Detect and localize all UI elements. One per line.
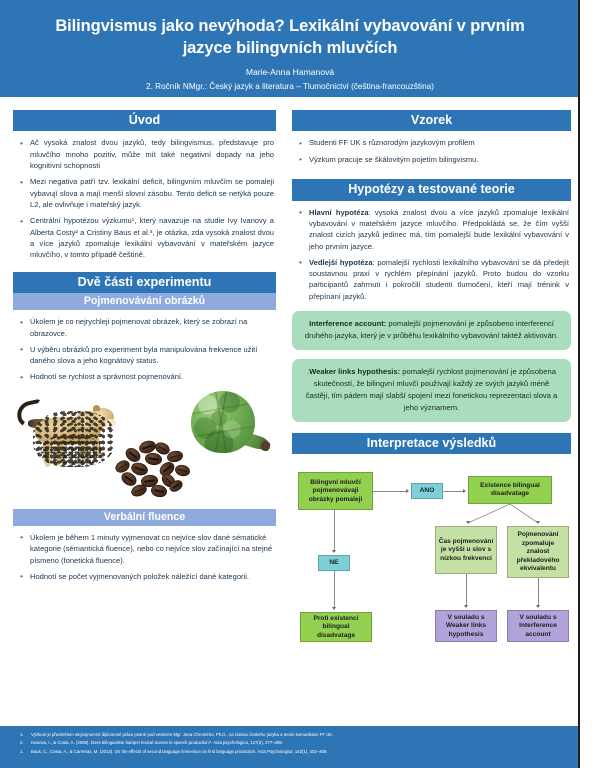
list-item: Hodnotí se počet vyjmenovaných položek n… xyxy=(19,571,274,582)
callout-label: Weaker links hypothesis: xyxy=(309,367,400,376)
interpretation-flowchart: Bilingvní mluvčí pojmenovávaji obrázky p… xyxy=(292,462,571,657)
section-heading-intro: Úvod xyxy=(13,110,276,131)
poster-footnotes: 1. Výzkum je předmětem stejnojmenné dipl… xyxy=(0,726,580,768)
author-name: Marie-Anna Hamanová xyxy=(0,67,580,77)
footnote-text: Baus, C., Costa, A., & Carreiras, M. (20… xyxy=(31,749,328,754)
footnote-list: 1. Výzkum je předmětem stejnojmenné dipl… xyxy=(14,731,570,756)
flow-branch-lines xyxy=(412,504,552,526)
list-item: Ač vysoká znalost dvou jazyků, tedy bili… xyxy=(19,137,274,171)
flow-node-start: Bilingvní mluvčí pojmenovávaji obrázky p… xyxy=(298,472,373,510)
hypothesis-label: Hlavní hypotéza xyxy=(309,208,369,217)
section-heading-sample: Vzorek xyxy=(292,110,571,131)
flow-connector xyxy=(443,491,465,492)
footnote-number: 1. xyxy=(20,731,24,739)
flow-node-branch-frequency: Čas pojmenování je vyšši u slov s nízkou… xyxy=(435,526,497,574)
list-item: Hlavní hypotéza: vysoká znalost dvou a v… xyxy=(298,207,569,252)
flow-connector xyxy=(373,491,407,492)
flow-arrow xyxy=(463,489,466,493)
flow-arrow xyxy=(464,605,468,608)
list-item: Centrální hypotézou výzkumu¹, který nava… xyxy=(19,215,274,260)
author-affiliation: 2. Ročník NMgr.: Český jazyk a literatur… xyxy=(0,82,580,91)
list-item: U výběru obrázků pro experiment byla man… xyxy=(19,344,274,367)
list-item: Studenti FF UK s různorodým jazykovým pr… xyxy=(298,137,569,148)
subsection-heading-verbal-fluency: Verbální fluence xyxy=(13,509,276,526)
flow-connector xyxy=(334,510,335,552)
flow-node-no: NE xyxy=(318,555,350,571)
flow-arrow xyxy=(332,607,336,610)
left-column: Úvod Ač vysoká znalost dvou jazyků, tedy… xyxy=(13,110,276,587)
list-item: Vedlejší hypotéza: pomalejší rychlosti l… xyxy=(298,257,569,302)
section-heading-experiment: Dvě části experimentu xyxy=(13,272,276,293)
flow-node-against-existence: Proti existenci bilingual disadvatage xyxy=(300,612,372,642)
callout-label: Interference account: xyxy=(309,319,386,328)
list-item: Výzkum pracuje se škálovitým pojetím bil… xyxy=(298,154,569,165)
page-right-margin xyxy=(580,0,604,768)
flow-node-existence: Existence bilingual disadvatage xyxy=(468,476,552,504)
flow-connector xyxy=(466,574,467,607)
hypothesis-label: Vedlejší hypotéza xyxy=(309,258,373,267)
callout-interference-account: Interference account: pomalejší pojmenov… xyxy=(292,311,571,350)
section-heading-hypotheses: Hypotézy a testované teorie xyxy=(292,179,571,200)
footnote-number: 1. xyxy=(20,748,24,756)
flow-connector xyxy=(334,571,335,609)
right-column: Vzorek Studenti FF UK s různorodým jazyk… xyxy=(292,110,571,657)
flow-connector xyxy=(538,578,539,607)
footnote-item: 1. Výzkum je předmětem stejnojmenné dipl… xyxy=(14,731,570,739)
verbal-fluency-bullet-list: Úkolem je během 1 minuty vyjmenovat co n… xyxy=(13,532,276,582)
page-title: Bilingvismus jako nevýhoda? Lexikální vy… xyxy=(0,16,580,60)
stimulus-image-strip xyxy=(13,389,276,509)
flow-node-yes: ANO xyxy=(411,483,443,499)
footnote-item: 1. Baus, C., Costa, A., & Carreiras, M. … xyxy=(14,748,570,756)
picture-naming-bullet-list: Úkolem je co nejrychleji pojmenovat obrá… xyxy=(13,316,276,383)
flow-node-result-weaker-links: V souladu s Weaker links hypothesis xyxy=(435,610,497,642)
coffee-beans-photo xyxy=(109,441,201,503)
flow-arrow xyxy=(466,521,470,524)
poster-canvas: Bilingvismus jako nevýhoda? Lexikální vy… xyxy=(0,0,604,768)
section-heading-interpretation: Interpretace výsledků xyxy=(292,433,571,454)
flow-arrow xyxy=(536,521,540,524)
flow-node-result-interference: V souladu s Interference account xyxy=(507,610,569,642)
flow-arrow xyxy=(536,605,540,608)
hypotheses-bullet-list: Hlavní hypotéza: vysoká znalost dvou a v… xyxy=(292,207,571,303)
subsection-heading-picture-naming: Pojmenovávání obrázků xyxy=(13,293,276,310)
page-border-right xyxy=(578,0,580,768)
flow-arrow xyxy=(406,489,409,493)
footnote-text: Výzkum je předmětem stejnojmenné diplomo… xyxy=(31,732,333,737)
flow-arrow xyxy=(332,550,336,553)
list-item: Úkolem je co nejrychleji pojmenovat obrá… xyxy=(19,316,274,339)
footnote-item: 2. Ivanova, I., & Costa, A. (2008). Does… xyxy=(14,739,570,747)
list-item: Úkolem je během 1 minuty vyjmenovat co n… xyxy=(19,532,274,566)
intro-bullet-list: Ač vysoká znalost dvou jazyků, tedy bili… xyxy=(13,137,276,260)
list-item: Mezi negativa patří tzv. lexikální defic… xyxy=(19,176,274,210)
leopard-photo xyxy=(17,395,121,469)
flow-node-branch-translation: Pojmenování zpomaluje znalost překladové… xyxy=(507,526,569,578)
list-item: Hodnotí se rychlost a správnost pojmenov… xyxy=(19,371,274,382)
footnote-number: 2. xyxy=(20,739,24,747)
sample-bullet-list: Studenti FF UK s různorodým jazykovým pr… xyxy=(292,137,571,165)
callout-weaker-links-hypothesis: .Weaker links hypothesis: pomalejší rych… xyxy=(292,359,571,422)
artichoke-photo xyxy=(189,389,271,473)
footnote-text: Ivanova, I., & Costa, A. (2008). Does bi… xyxy=(31,740,283,745)
poster-header: Bilingvismus jako nevýhoda? Lexikální vy… xyxy=(0,0,580,97)
